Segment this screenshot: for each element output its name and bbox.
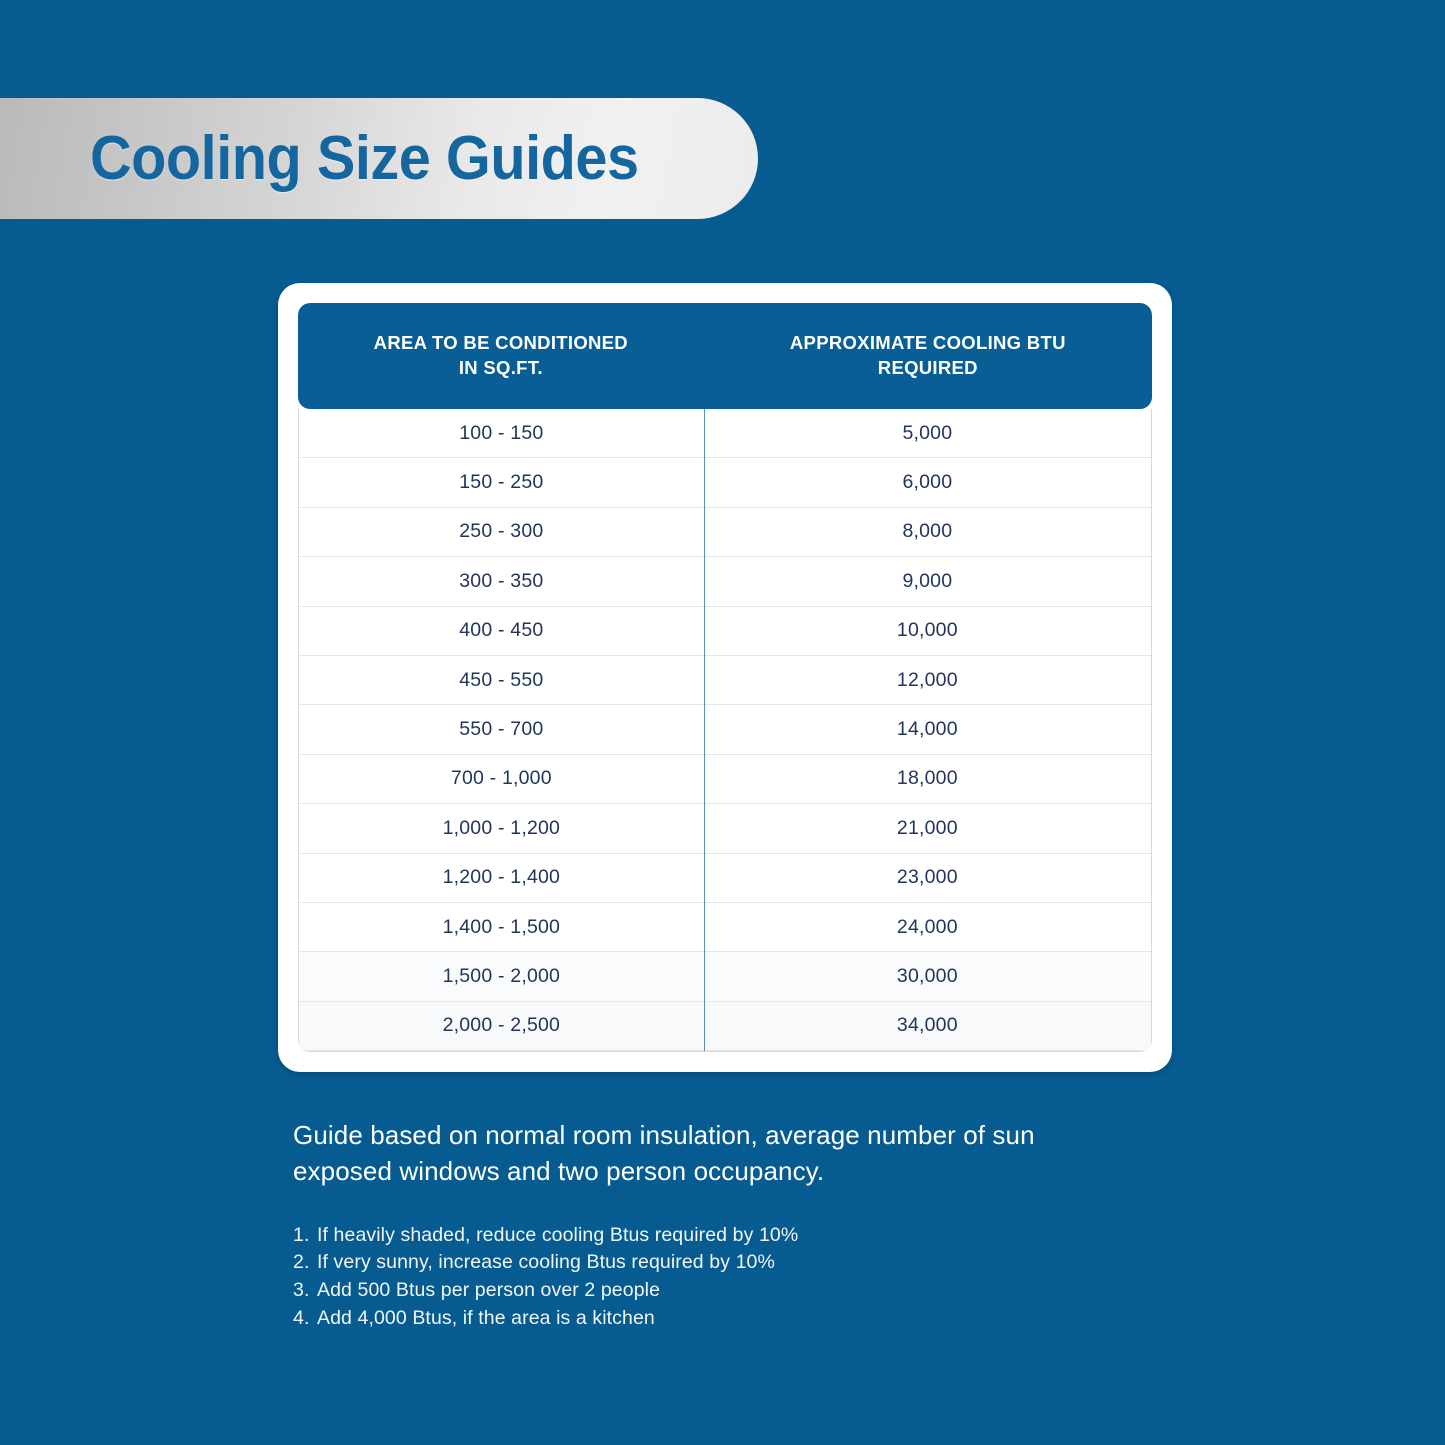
page-title: Cooling Size Guides [90, 123, 639, 194]
cell-area: 1,200 - 1,400 [299, 866, 704, 889]
cell-btu: 8,000 [704, 520, 1151, 543]
cell-area: 1,400 - 1,500 [299, 916, 704, 939]
note-text: Add 4,000 Btus, if the area is a kitchen [317, 1305, 655, 1333]
cell-area: 450 - 550 [299, 669, 704, 692]
column-header-btu-line2: REQUIRED [878, 357, 978, 378]
table-row: 2,000 - 2,500 34,000 [299, 1002, 1151, 1051]
cooling-size-table: AREA TO BE CONDITIONED IN SQ.FT. APPROXI… [298, 303, 1152, 1052]
table-body: 100 - 150 5,000 150 - 250 6,000 250 - 30… [298, 409, 1152, 1052]
cell-btu: 34,000 [704, 1014, 1151, 1037]
table-row: 1,500 - 2,000 30,000 [299, 952, 1151, 1001]
note-text: If very sunny, increase cooling Btus req… [317, 1249, 775, 1277]
column-header-area-line1: AREA TO BE CONDITIONED [374, 332, 628, 353]
column-header-btu: APPROXIMATE COOLING BTU REQUIRED [704, 303, 1152, 409]
cell-btu: 23,000 [704, 866, 1151, 889]
cell-area: 150 - 250 [299, 471, 704, 494]
cell-btu: 5,000 [704, 422, 1151, 445]
list-item: 3. Add 500 Btus per person over 2 people [293, 1277, 1193, 1305]
footer-note-list: 1. If heavily shaded, reduce cooling Btu… [293, 1222, 1193, 1333]
cell-area: 2,000 - 2,500 [299, 1014, 704, 1037]
table-row: 450 - 550 12,000 [299, 656, 1151, 705]
cell-btu: 14,000 [704, 718, 1151, 741]
table-row: 300 - 350 9,000 [299, 557, 1151, 606]
cell-area: 100 - 150 [299, 422, 704, 445]
note-number: 3. [293, 1277, 317, 1305]
column-header-btu-line1: APPROXIMATE COOLING BTU [790, 332, 1066, 353]
list-item: 4. Add 4,000 Btus, if the area is a kitc… [293, 1305, 1193, 1333]
table-row: 700 - 1,000 18,000 [299, 755, 1151, 804]
title-banner: Cooling Size Guides [0, 98, 758, 219]
cell-area: 300 - 350 [299, 570, 704, 593]
table-row: 100 - 150 5,000 [299, 409, 1151, 458]
table-row: 1,000 - 1,200 21,000 [299, 804, 1151, 853]
cell-area: 550 - 700 [299, 718, 704, 741]
table-row: 1,200 - 1,400 23,000 [299, 854, 1151, 903]
table-row: 250 - 300 8,000 [299, 508, 1151, 557]
cell-area: 1,500 - 2,000 [299, 965, 704, 988]
cell-area: 700 - 1,000 [299, 767, 704, 790]
cell-btu: 21,000 [704, 817, 1151, 840]
cell-btu: 9,000 [704, 570, 1151, 593]
note-number: 4. [293, 1305, 317, 1333]
note-number: 1. [293, 1222, 317, 1250]
note-number: 2. [293, 1249, 317, 1277]
note-text: Add 500 Btus per person over 2 people [317, 1277, 660, 1305]
cell-area: 250 - 300 [299, 520, 704, 543]
table-row: 400 - 450 10,000 [299, 607, 1151, 656]
table-header-row: AREA TO BE CONDITIONED IN SQ.FT. APPROXI… [298, 303, 1152, 409]
cell-area: 400 - 450 [299, 619, 704, 642]
cell-btu: 24,000 [704, 916, 1151, 939]
column-header-area-line2: IN SQ.FT. [459, 357, 543, 378]
list-item: 2. If very sunny, increase cooling Btus … [293, 1249, 1193, 1277]
cell-btu: 6,000 [704, 471, 1151, 494]
cell-btu: 18,000 [704, 767, 1151, 790]
note-text: If heavily shaded, reduce cooling Btus r… [317, 1222, 798, 1250]
cell-area: 1,000 - 1,200 [299, 817, 704, 840]
cell-btu: 10,000 [704, 619, 1151, 642]
list-item: 1. If heavily shaded, reduce cooling Btu… [293, 1222, 1193, 1250]
column-header-area: AREA TO BE CONDITIONED IN SQ.FT. [298, 303, 704, 409]
cooling-size-table-card: AREA TO BE CONDITIONED IN SQ.FT. APPROXI… [278, 283, 1172, 1072]
footer-intro-text: Guide based on normal room insulation, a… [293, 1118, 1123, 1190]
table-row: 150 - 250 6,000 [299, 458, 1151, 507]
cell-btu: 30,000 [704, 965, 1151, 988]
table-row: 550 - 700 14,000 [299, 705, 1151, 754]
table-row: 1,400 - 1,500 24,000 [299, 903, 1151, 952]
footer-notes: Guide based on normal room insulation, a… [293, 1118, 1193, 1333]
cell-btu: 12,000 [704, 669, 1151, 692]
